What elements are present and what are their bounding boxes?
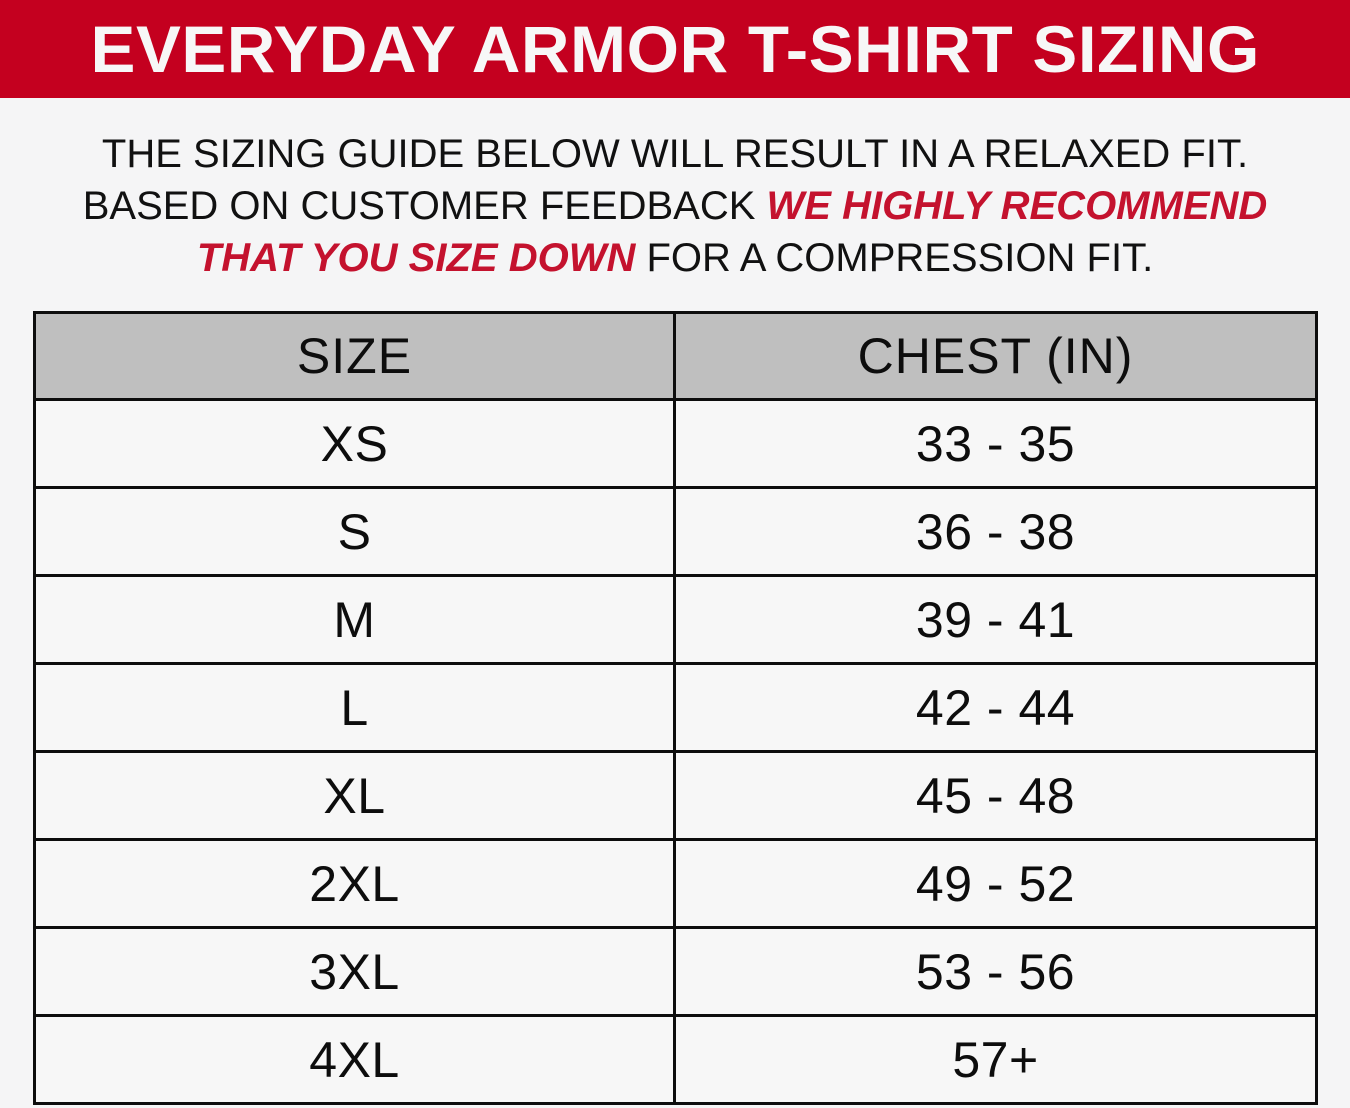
cell-size: XL bbox=[35, 752, 675, 840]
table-row: XS 33 - 35 bbox=[35, 400, 1317, 488]
column-header-chest: CHEST (IN) bbox=[675, 313, 1317, 400]
header-banner: EVERYDAY ARMOR T-SHIRT SIZING bbox=[0, 0, 1350, 98]
table-row: L 42 - 44 bbox=[35, 664, 1317, 752]
fit-guidance-emphasis-2: THAT YOU SIZE DOWN bbox=[197, 236, 636, 280]
fit-guidance-line-3-text: FOR A COMPRESSION FIT. bbox=[635, 236, 1153, 280]
fit-guidance-line-3: THAT YOU SIZE DOWN FOR A COMPRESSION FIT… bbox=[0, 232, 1350, 284]
page-title: EVERYDAY ARMOR T-SHIRT SIZING bbox=[90, 16, 1259, 82]
cell-chest: 57+ bbox=[675, 1016, 1317, 1104]
cell-size: 3XL bbox=[35, 928, 675, 1016]
table-row: 2XL 49 - 52 bbox=[35, 840, 1317, 928]
sizing-table: SIZE CHEST (IN) XS 33 - 35 S 36 - 38 M 3… bbox=[33, 311, 1318, 1105]
cell-chest: 39 - 41 bbox=[675, 576, 1317, 664]
table-header-row: SIZE CHEST (IN) bbox=[35, 313, 1317, 400]
cell-chest: 36 - 38 bbox=[675, 488, 1317, 576]
cell-chest: 45 - 48 bbox=[675, 752, 1317, 840]
table-row: 4XL 57+ bbox=[35, 1016, 1317, 1104]
sizing-table-header: SIZE CHEST (IN) bbox=[35, 313, 1317, 400]
sizing-table-body: XS 33 - 35 S 36 - 38 M 39 - 41 L 42 - 44… bbox=[35, 400, 1317, 1104]
fit-guidance-text: THE SIZING GUIDE BELOW WILL RESULT IN A … bbox=[0, 128, 1350, 284]
cell-chest: 42 - 44 bbox=[675, 664, 1317, 752]
cell-size: M bbox=[35, 576, 675, 664]
cell-size: L bbox=[35, 664, 675, 752]
table-row: S 36 - 38 bbox=[35, 488, 1317, 576]
table-row: XL 45 - 48 bbox=[35, 752, 1317, 840]
cell-chest: 33 - 35 bbox=[675, 400, 1317, 488]
cell-size: 4XL bbox=[35, 1016, 675, 1104]
cell-chest: 49 - 52 bbox=[675, 840, 1317, 928]
column-header-size: SIZE bbox=[35, 313, 675, 400]
cell-chest: 53 - 56 bbox=[675, 928, 1317, 1016]
table-row: 3XL 53 - 56 bbox=[35, 928, 1317, 1016]
cell-size: 2XL bbox=[35, 840, 675, 928]
cell-size: XS bbox=[35, 400, 675, 488]
cell-size: S bbox=[35, 488, 675, 576]
sizing-chart-page: EVERYDAY ARMOR T-SHIRT SIZING THE SIZING… bbox=[0, 0, 1350, 1108]
table-row: M 39 - 41 bbox=[35, 576, 1317, 664]
fit-guidance-line-2-text: BASED ON CUSTOMER FEEDBACK bbox=[83, 184, 767, 228]
fit-guidance-emphasis-1: WE HIGHLY RECOMMEND bbox=[767, 184, 1268, 228]
fit-guidance-line-1: THE SIZING GUIDE BELOW WILL RESULT IN A … bbox=[0, 128, 1350, 180]
fit-guidance-line-2: BASED ON CUSTOMER FEEDBACK WE HIGHLY REC… bbox=[0, 180, 1350, 232]
fit-guidance-line-1-text: THE SIZING GUIDE BELOW WILL RESULT IN A … bbox=[102, 132, 1248, 176]
